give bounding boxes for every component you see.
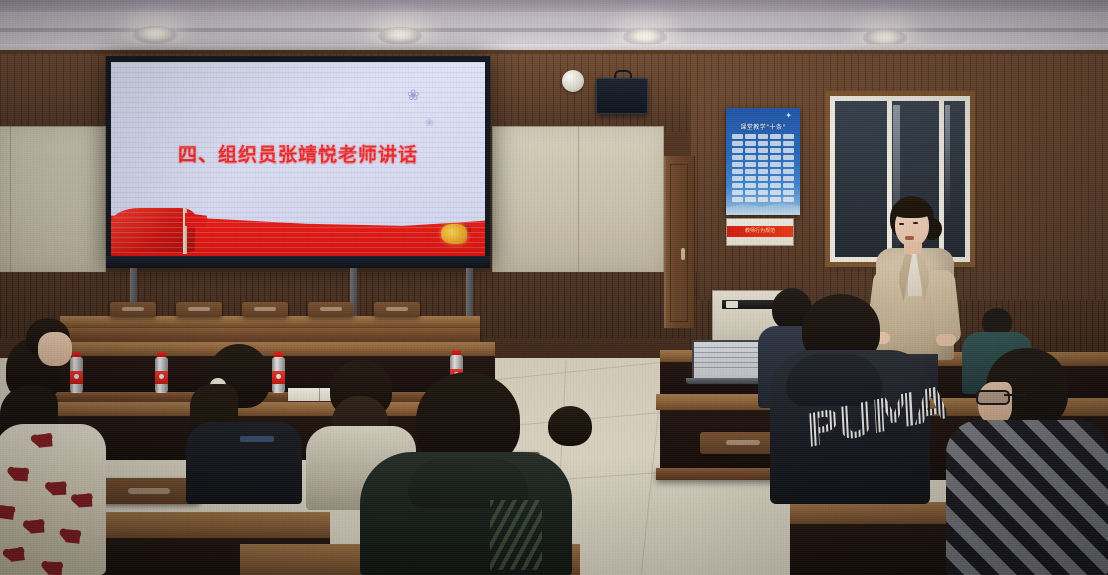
heart-motif-icon — [0, 505, 15, 520]
projection-screen: ❀ ❀ 四、组织员张靖悦老师讲话 — [106, 56, 490, 268]
chair-slot — [726, 440, 760, 445]
audience-member-left-rear — [8, 318, 86, 398]
presenter-hair-front — [892, 201, 932, 218]
laptop-base — [686, 378, 764, 384]
laptop-screen-content — [694, 347, 760, 371]
presenter-eye — [913, 222, 918, 224]
poster-banner-text: 教师行为规范 — [727, 226, 793, 237]
slide-title: 四、组织员张靖悦老师讲话 — [111, 140, 485, 167]
head — [548, 406, 592, 446]
dove-icon: ❀ — [407, 86, 420, 104]
hammer-sickle-emblem-icon — [441, 224, 467, 244]
presenter-mouth — [905, 236, 914, 240]
console-knob-icon[interactable] — [726, 301, 738, 308]
audience-member-puma: PUMA — [770, 294, 930, 504]
acoustic-panel — [0, 126, 106, 276]
presenter-eye — [899, 223, 904, 225]
eyeglasses-icon — [976, 390, 1010, 405]
dove-icon: ❀ — [425, 116, 434, 129]
ceiling-light-icon — [133, 26, 177, 44]
chair-slot — [254, 307, 276, 311]
heart-motif-icon — [14, 468, 29, 482]
chair-slot — [122, 307, 144, 311]
presenter-hand-right — [936, 334, 956, 346]
door-panel-inset — [670, 164, 688, 322]
torso-patterned-jacket — [946, 420, 1108, 575]
door-handle-icon[interactable] — [681, 248, 685, 260]
ceiling-light-icon — [378, 27, 422, 45]
wall-speaker-icon — [596, 78, 648, 114]
star-icon: ✦ — [785, 111, 792, 120]
heart-motif-icon — [37, 433, 52, 447]
audience-member-ponytail — [186, 344, 302, 504]
heart-motif-icon — [29, 519, 44, 533]
ceiling-shadow-band — [0, 0, 1108, 12]
screen-bottom-bar — [106, 256, 490, 268]
slide-flag — [185, 213, 207, 228]
poster-text-grid — [732, 134, 794, 202]
presenter-laptop[interactable] — [692, 340, 762, 380]
jacket-logo — [240, 436, 274, 442]
chair-slot — [188, 307, 210, 311]
audience-member-partial — [548, 406, 592, 466]
heart-motif-icon — [65, 529, 80, 543]
heart-motif-icon — [9, 547, 25, 562]
photo-scene: ❀ ❀ 四、组织员张靖悦老师讲话 ✦ 课堂教学"十条" — [0, 0, 1108, 575]
dome-sensor-icon — [562, 70, 584, 92]
hoodie-print — [490, 500, 542, 570]
presenter-neck — [904, 242, 922, 254]
face-profile — [38, 332, 72, 366]
heart-motif-icon — [78, 494, 93, 508]
heart-motif-icon — [48, 562, 63, 575]
panel-seam — [578, 126, 579, 274]
projected-slide: ❀ ❀ 四、组织员张靖悦老师讲话 — [111, 62, 485, 256]
wall-poster: ✦ 课堂教学"十条" — [726, 108, 800, 215]
wall-poster-secondary: 教师行为规范 — [726, 218, 794, 246]
chair-slot — [320, 307, 342, 311]
panel-seam — [10, 126, 11, 274]
desk-row-back — [60, 316, 480, 328]
chair-slot — [386, 307, 408, 311]
eyeglasses-temple — [1004, 394, 1026, 396]
audience-member-dark-hoodie — [360, 372, 572, 575]
poster-title: 课堂教学"十条" — [726, 122, 800, 131]
heart-motif-icon — [52, 482, 67, 496]
chair-slot — [128, 488, 170, 494]
torso-jacket — [186, 422, 302, 504]
audience-member-patterned — [946, 348, 1108, 575]
